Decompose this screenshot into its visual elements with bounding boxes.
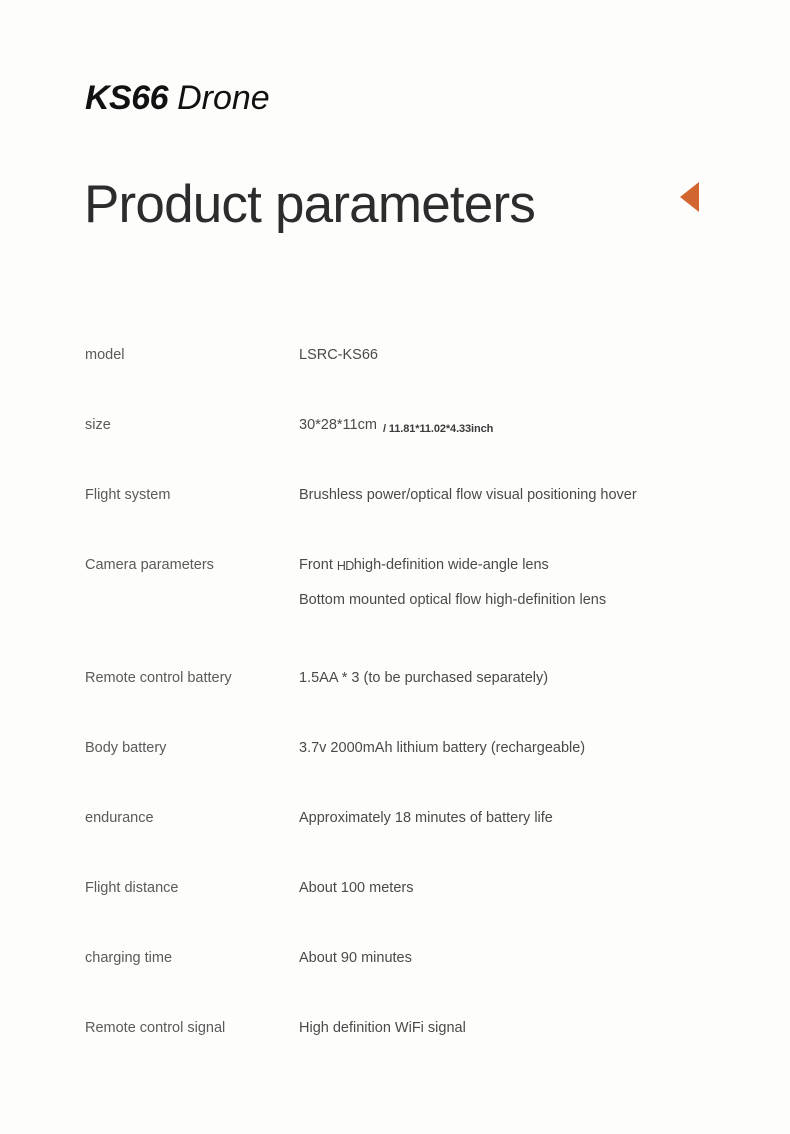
spec-value: Front HDhigh-definition wide-angle lens — [299, 555, 549, 575]
table-row: Remote control battery 1.5AA * 3 (to be … — [0, 659, 790, 729]
hd-badge: HD — [337, 559, 354, 573]
spec-value-secondary: Bottom mounted optical flow high-definit… — [299, 590, 606, 610]
table-row: Flight system Brushless power/optical fl… — [0, 476, 790, 546]
brand-title: KS66Drone — [85, 77, 270, 119]
brand-model-name: KS66 — [85, 79, 168, 117]
spec-label: Camera parameters — [85, 555, 214, 575]
spec-label: Remote control battery — [85, 668, 232, 688]
spec-value: 1.5AA * 3 (to be purchased separately) — [299, 668, 548, 688]
spec-value: About 100 meters — [299, 878, 413, 898]
spec-value: About 90 minutes — [299, 948, 412, 968]
spec-label: charging time — [85, 948, 172, 968]
spec-table: model LSRC-KS66 size 30*28*11cm/ 11.81*1… — [0, 336, 790, 1079]
spec-value: High definition WiFi signal — [299, 1018, 466, 1038]
spec-label: size — [85, 415, 111, 435]
spec-label: Flight system — [85, 485, 170, 505]
table-row: model LSRC-KS66 — [0, 336, 790, 406]
table-row: Remote control signal High definition Wi… — [0, 1009, 790, 1079]
triangle-left-icon — [680, 182, 699, 212]
spec-label: endurance — [85, 808, 154, 828]
spec-value-prefix: Front — [299, 557, 337, 573]
table-row: Body battery 3.7v 2000mAh lithium batter… — [0, 729, 790, 799]
table-row: endurance Approximately 18 minutes of ba… — [0, 799, 790, 869]
table-row: Flight distance About 100 meters — [0, 869, 790, 939]
spec-value: Brushless power/optical flow visual posi… — [299, 485, 637, 505]
spec-value-imperial: / 11.81*11.02*4.33inch — [383, 423, 493, 435]
spec-value: 3.7v 2000mAh lithium battery (rechargeab… — [299, 738, 585, 758]
product-parameters-page: KS66Drone Product parameters model LSRC-… — [0, 0, 790, 1134]
table-row: Camera parameters Front HDhigh-definitio… — [0, 546, 790, 659]
table-row: size 30*28*11cm/ 11.81*11.02*4.33inch — [0, 406, 790, 476]
spec-value-suffix: high-definition wide-angle lens — [354, 557, 549, 573]
page-title: Product parameters — [84, 174, 535, 236]
spec-label: model — [85, 345, 125, 365]
spec-label: Body battery — [85, 738, 166, 758]
spec-label: Remote control signal — [85, 1018, 225, 1038]
table-row: charging time About 90 minutes — [0, 939, 790, 1009]
spec-label: Flight distance — [85, 878, 179, 898]
spec-value: 30*28*11cm/ 11.81*11.02*4.33inch — [299, 415, 493, 436]
brand-product-word: Drone — [177, 79, 270, 117]
spec-value: Approximately 18 minutes of battery life — [299, 808, 553, 828]
spec-value-metric: 30*28*11cm — [299, 417, 377, 433]
spec-value: LSRC-KS66 — [299, 345, 378, 365]
